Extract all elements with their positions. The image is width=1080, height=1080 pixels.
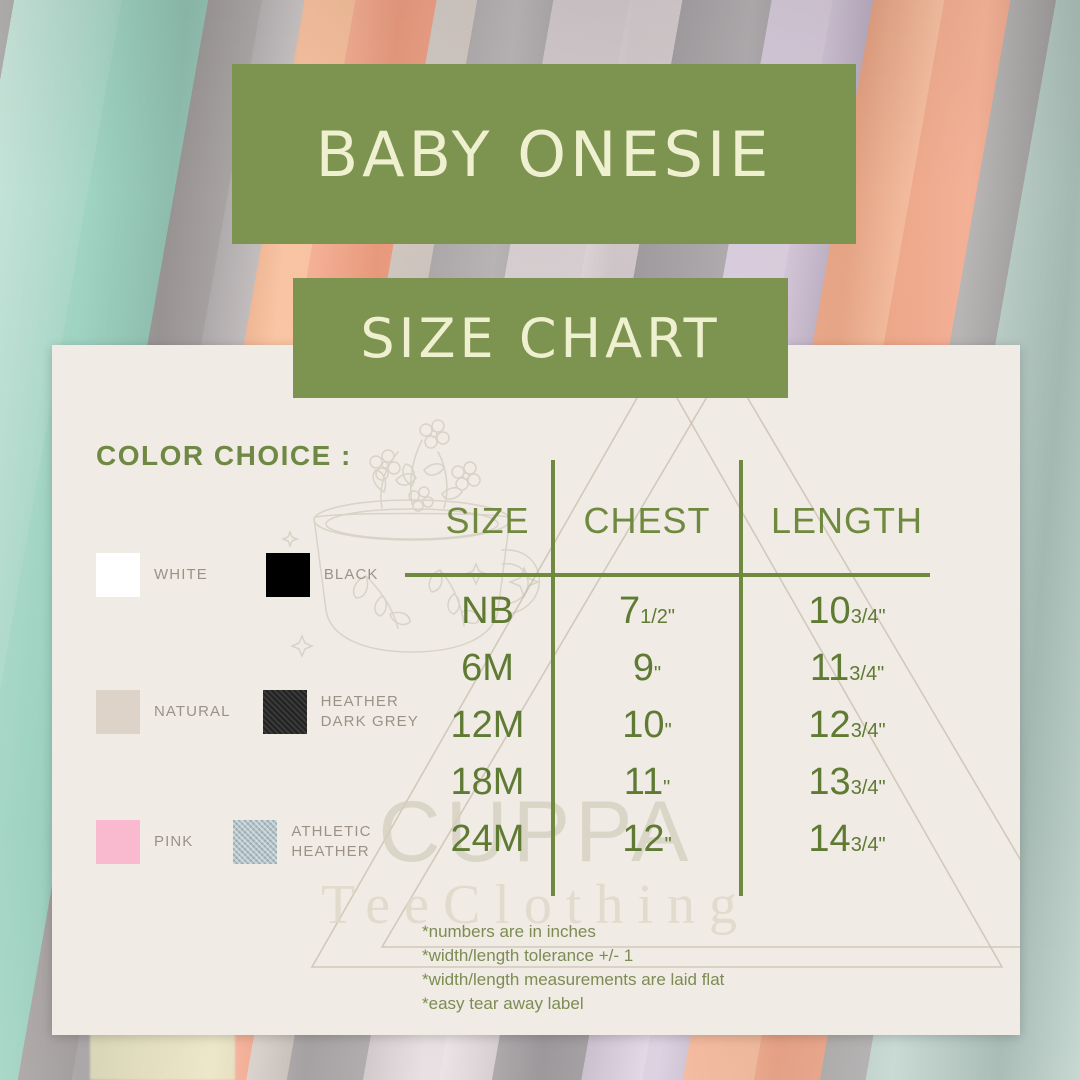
table-row: 12M (425, 704, 550, 747)
cell-chest-whole: 12 (622, 818, 664, 860)
table-vline-1 (551, 460, 555, 896)
cell-length-frac: 3/4" (851, 777, 886, 799)
table-row: 103/4" (747, 590, 947, 633)
page-title: BABY ONESIE (316, 118, 773, 191)
subtitle-banner: SIZE CHART (293, 278, 788, 398)
cell-size: 6M (461, 647, 514, 689)
cell-length-whole: 13 (808, 761, 850, 803)
column-header-length: LENGTH (747, 500, 947, 542)
cell-length-frac: 3/4" (849, 663, 884, 685)
cell-length-whole: 10 (808, 590, 850, 632)
size-chart-card: CUPPA TeeClothing COLOR CHOICE : WHITE B… (52, 345, 1020, 1035)
cell-size: NB (461, 590, 514, 632)
cell-chest-frac: " (665, 720, 672, 742)
cell-chest-frac: " (663, 777, 670, 799)
column-header-size: SIZE (425, 500, 550, 542)
footnote-item: *numbers are in inches (422, 920, 724, 944)
cell-chest-frac: 1/2" (640, 606, 675, 628)
cell-chest-whole: 9 (633, 647, 654, 689)
cell-length-frac: 3/4" (851, 720, 886, 742)
cell-length-whole: 12 (808, 704, 850, 746)
cell-length-whole: 11 (810, 647, 849, 689)
table-row: 6M (425, 647, 550, 690)
table-row: 113/4" (747, 647, 947, 690)
cell-size: 24M (451, 818, 525, 860)
table-row: 133/4" (747, 761, 947, 804)
footnotes: *numbers are in inches *width/length tol… (422, 920, 724, 1017)
cell-length-whole: 14 (808, 818, 850, 860)
title-banner: BABY ONESIE (232, 64, 856, 244)
cell-length-frac: 3/4" (851, 606, 886, 628)
table-row: 10" (557, 704, 737, 747)
table-row: 143/4" (747, 818, 947, 861)
column-header-chest: CHEST (557, 500, 737, 542)
table-row: 12" (557, 818, 737, 861)
cell-size: 18M (451, 761, 525, 803)
cell-chest-frac: " (665, 834, 672, 856)
footnote-item: *width/length measurements are laid flat (422, 968, 724, 992)
size-chart-graphic: CUPPA TeeClothing COLOR CHOICE : WHITE B… (0, 0, 1080, 1080)
table-row: 11" (557, 761, 737, 804)
cell-chest-frac: " (654, 663, 661, 685)
table-row: 9" (557, 647, 737, 690)
table-vline-2 (739, 460, 743, 896)
table-row: 18M (425, 761, 550, 804)
table-row: 24M (425, 818, 550, 861)
cell-chest-whole: 7 (619, 590, 640, 632)
cell-chest-whole: 11 (624, 761, 663, 803)
table-row: NB (425, 590, 550, 633)
cell-length-frac: 3/4" (851, 834, 886, 856)
cell-size: 12M (451, 704, 525, 746)
table-row: 71/2" (557, 590, 737, 633)
page-subtitle: SIZE CHART (360, 307, 720, 370)
footnote-item: *easy tear away label (422, 992, 724, 1016)
table-row: 123/4" (747, 704, 947, 747)
table-header-rule (405, 573, 930, 577)
footnote-item: *width/length tolerance +/- 1 (422, 944, 724, 968)
cell-chest-whole: 10 (622, 704, 664, 746)
